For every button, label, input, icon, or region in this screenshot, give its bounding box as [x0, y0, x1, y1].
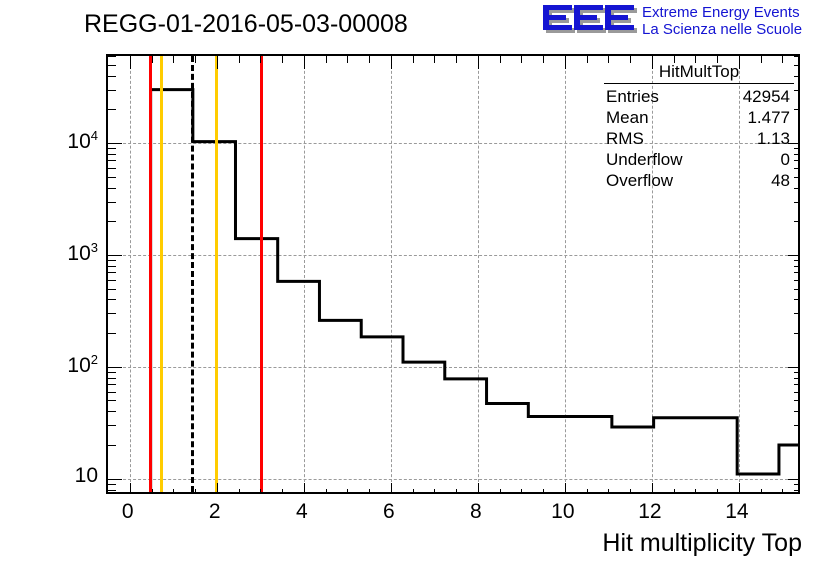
x-tick	[565, 483, 566, 492]
y-tick	[794, 484, 798, 485]
y-tick	[108, 76, 116, 77]
y-tick	[794, 490, 798, 491]
x-tick	[391, 483, 392, 492]
stats-row-value: 42954	[743, 86, 790, 107]
x-tick	[347, 489, 348, 492]
x-tick	[304, 56, 305, 69]
y-tick	[108, 109, 116, 110]
x-tick	[695, 489, 696, 492]
y-tick-label: 10	[28, 464, 98, 488]
x-tick	[195, 56, 196, 63]
y-tick	[794, 188, 798, 189]
y-tick-label: 104	[28, 128, 98, 154]
y-tick	[794, 411, 798, 412]
x-tick	[152, 489, 153, 492]
x-tick	[456, 56, 457, 63]
y-tick	[108, 411, 116, 412]
y-tick	[108, 168, 116, 169]
y-tick	[788, 255, 798, 256]
x-tick	[413, 489, 414, 492]
stats-row-value: 1.13	[757, 128, 790, 149]
x-tick	[130, 483, 131, 492]
x-tick	[326, 56, 327, 63]
y-tick-label-base: 10	[67, 354, 90, 377]
y-tick	[108, 160, 116, 161]
x-tick	[521, 56, 522, 63]
y-tick	[794, 372, 798, 373]
x-tick	[456, 489, 457, 492]
y-tick	[794, 313, 798, 314]
eee-logo-line-1: Extreme Energy Events	[642, 4, 802, 21]
y-tick	[794, 221, 798, 222]
y-tick	[108, 266, 116, 267]
x-tick	[717, 489, 718, 492]
y-tick	[108, 289, 116, 290]
y-tick	[108, 384, 116, 385]
eee-logo: Extreme Energy Events La Scienza nelle S…	[540, 2, 832, 42]
x-tick	[543, 56, 544, 63]
x-tick	[521, 489, 522, 492]
x-tick	[369, 489, 370, 492]
y-tick	[108, 392, 116, 393]
x-tick	[478, 56, 479, 69]
stats-row-value: 0	[781, 149, 790, 170]
y-tick	[794, 299, 798, 300]
x-tick	[500, 489, 501, 492]
x-tick	[761, 489, 762, 492]
x-tick	[739, 483, 740, 492]
stats-row: Mean1.477	[604, 107, 794, 128]
x-axis-title: Hit multiplicity Top	[602, 529, 802, 558]
y-tick	[108, 188, 116, 189]
x-tick	[674, 489, 675, 492]
y-tick	[794, 168, 798, 169]
stats-row: Entries42954	[604, 86, 794, 107]
y-tick	[794, 392, 798, 393]
red-line-left	[149, 56, 152, 492]
x-tick	[152, 56, 153, 63]
x-tick-label: 0	[98, 500, 158, 524]
black-dashed-line	[191, 56, 194, 492]
y-tick	[794, 266, 798, 267]
x-tick	[630, 489, 631, 492]
y-tick-label-base: 10	[75, 464, 98, 487]
x-tick	[565, 56, 566, 69]
y-tick	[108, 90, 116, 91]
y-tick	[794, 400, 798, 401]
y-tick	[108, 56, 116, 57]
eee-logo-line-2: La Scienza nelle Scuole	[642, 21, 802, 38]
x-tick	[173, 489, 174, 492]
y-tick	[108, 65, 116, 66]
y-tick	[794, 260, 798, 261]
y-tick	[108, 333, 116, 334]
y-tick	[794, 154, 798, 155]
y-tick	[108, 177, 116, 178]
stats-row: Underflow0	[604, 149, 794, 170]
y-tick	[108, 484, 116, 485]
y-tick	[108, 425, 116, 426]
x-tick	[434, 56, 435, 63]
x-tick	[173, 56, 174, 63]
y-tick	[794, 280, 798, 281]
x-tick-label: 4	[272, 500, 332, 524]
y-tick-label-exponent: 4	[91, 128, 98, 143]
x-tick	[587, 56, 588, 63]
y-tick	[788, 479, 798, 480]
x-tick	[326, 489, 327, 492]
x-tick	[369, 56, 370, 63]
y-tick	[794, 289, 798, 290]
stats-row-value: 48	[771, 170, 790, 191]
y-tick	[794, 56, 798, 57]
x-tick	[130, 56, 131, 69]
y-tick	[108, 260, 116, 261]
x-tick	[282, 489, 283, 492]
stats-row: Overflow48	[604, 170, 794, 191]
y-tick	[108, 313, 116, 314]
y-tick	[794, 65, 798, 66]
y-tick	[794, 177, 798, 178]
page-title: REGG-01-2016-05-03-00008	[84, 10, 408, 39]
y-tick	[108, 299, 116, 300]
x-tick-label: 12	[620, 500, 680, 524]
y-tick	[794, 333, 798, 334]
y-tick	[108, 479, 122, 480]
y-tick	[108, 202, 116, 203]
y-tick	[794, 425, 798, 426]
red-line-right	[260, 56, 263, 492]
y-tick-label-exponent: 2	[91, 352, 98, 367]
y-tick	[108, 221, 116, 222]
y-tick	[108, 154, 116, 155]
x-tick-label: 10	[533, 500, 593, 524]
y-tick	[794, 445, 798, 446]
x-tick	[652, 483, 653, 492]
y-tick	[108, 148, 116, 149]
y-tick	[794, 76, 798, 77]
x-tick	[391, 56, 392, 69]
y-tick	[794, 90, 798, 91]
orange-line-right	[215, 56, 218, 492]
stats-box-divider	[604, 83, 794, 84]
x-tick	[347, 56, 348, 63]
y-tick-label: 102	[28, 352, 98, 378]
y-tick	[108, 372, 116, 373]
x-tick	[500, 56, 501, 63]
y-tick	[794, 202, 798, 203]
y-tick	[108, 280, 116, 281]
y-tick	[794, 148, 798, 149]
stats-row: RMS1.13	[604, 128, 794, 149]
x-tick	[239, 56, 240, 63]
stats-box-rows: Entries42954Mean1.477RMS1.13Underflow0Ov…	[604, 86, 794, 191]
y-tick-label-exponent: 3	[91, 240, 98, 255]
x-tick	[543, 489, 544, 492]
eee-logo-mark-icon	[540, 3, 638, 37]
y-tick	[794, 384, 798, 385]
x-tick-label: 2	[185, 500, 245, 524]
y-tick	[794, 272, 798, 273]
stats-row-key: Overflow	[606, 170, 673, 191]
x-tick	[217, 483, 218, 492]
y-tick	[794, 109, 798, 110]
y-tick	[108, 490, 116, 491]
x-tick	[782, 489, 783, 492]
x-tick	[239, 489, 240, 492]
x-tick	[195, 489, 196, 492]
y-tick	[108, 367, 122, 368]
y-tick	[108, 445, 116, 446]
x-tick	[587, 489, 588, 492]
x-tick	[260, 489, 261, 492]
x-tick-label: 8	[446, 500, 506, 524]
y-tick	[108, 400, 116, 401]
y-tick-label: 103	[28, 240, 98, 266]
stats-row-key: Entries	[606, 86, 659, 107]
y-tick	[108, 143, 122, 144]
y-tick	[794, 160, 798, 161]
x-tick	[304, 483, 305, 492]
stats-row-key: Underflow	[606, 149, 683, 170]
stats-box: HitMultTop Entries42954Mean1.477RMS1.13U…	[604, 62, 794, 191]
x-tick	[413, 56, 414, 63]
y-tick-label-base: 10	[67, 242, 90, 265]
y-tick	[108, 255, 122, 256]
stats-row-key: RMS	[606, 128, 644, 149]
stats-box-title: HitMultTop	[604, 62, 794, 83]
y-tick	[108, 378, 116, 379]
stats-row-value: 1.477	[747, 107, 790, 128]
x-tick	[478, 483, 479, 492]
x-tick	[608, 489, 609, 492]
y-tick	[788, 367, 798, 368]
x-tick-label: 6	[359, 500, 419, 524]
orange-line-left	[160, 56, 163, 492]
eee-logo-text: Extreme Energy Events La Scienza nelle S…	[642, 4, 802, 38]
x-tick	[217, 56, 218, 69]
stats-row-key: Mean	[606, 107, 649, 128]
y-tick	[108, 272, 116, 273]
y-tick	[794, 378, 798, 379]
x-tick	[282, 56, 283, 63]
x-tick	[434, 489, 435, 492]
x-tick-label: 14	[707, 500, 767, 524]
y-tick-label-base: 10	[67, 130, 90, 153]
x-tick	[260, 56, 261, 63]
